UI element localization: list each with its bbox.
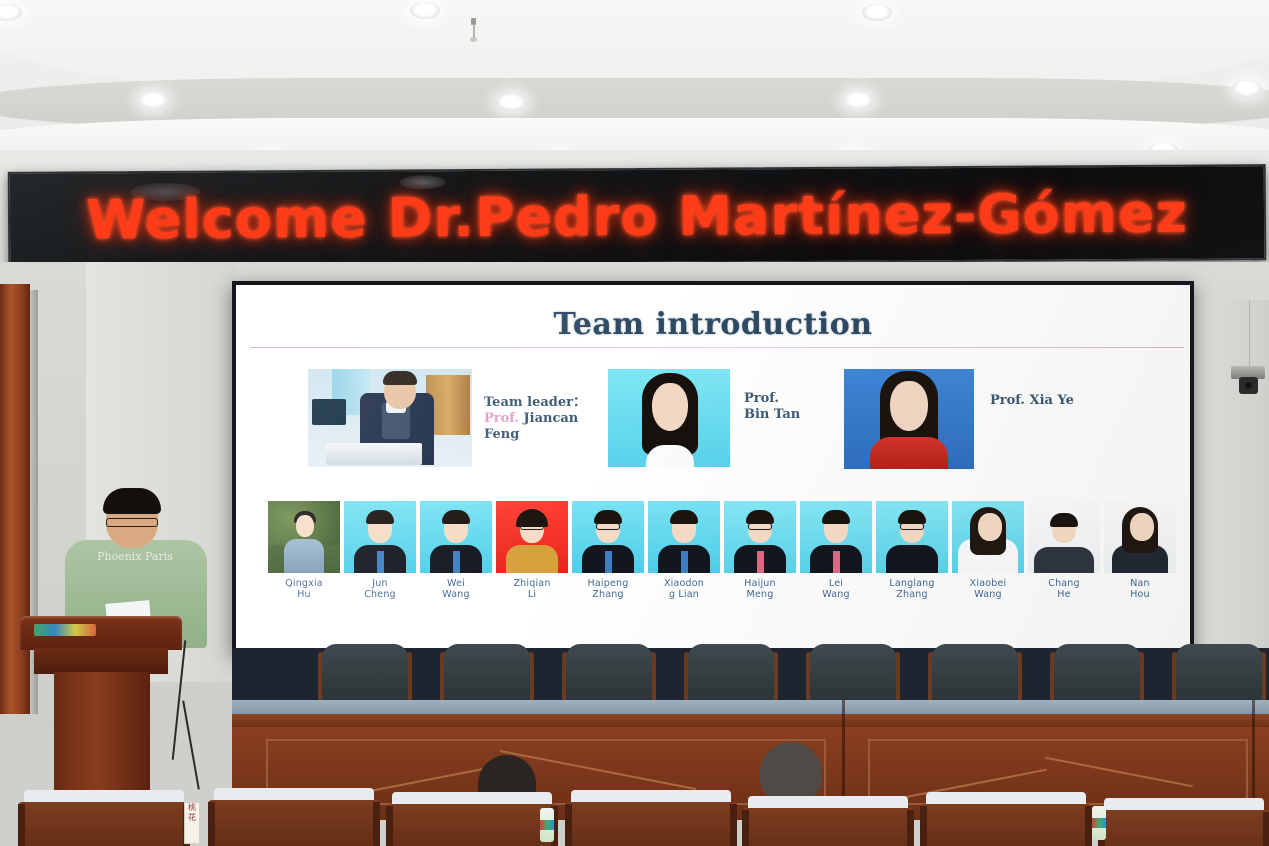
student-name: HaijunMeng bbox=[724, 578, 796, 600]
ceiling-light-icon bbox=[496, 94, 526, 111]
led-banner-text: Welcome Dr.Pedro Martínez-Gómez bbox=[10, 166, 1265, 266]
security-camera-icon bbox=[1231, 366, 1265, 400]
water-bottle bbox=[1092, 806, 1106, 840]
student-cell: LeiWang bbox=[800, 501, 872, 600]
student-photo-qingxia-hu bbox=[268, 501, 340, 573]
audience-seat[interactable] bbox=[1098, 798, 1269, 846]
head-table-chair[interactable] bbox=[806, 644, 900, 706]
student-photo-xiaodong-lian bbox=[648, 501, 720, 573]
student-cell: WeiWang bbox=[420, 501, 492, 600]
projection-screen: Team introduction Team leader： Prof. Jia… bbox=[232, 281, 1194, 653]
leader-given-name: Jiancan bbox=[519, 411, 578, 426]
student-cell: NanHou bbox=[1104, 501, 1176, 600]
water-bottle bbox=[540, 808, 554, 842]
student-name: ChangHe bbox=[1028, 578, 1100, 600]
head-table-chair[interactable] bbox=[1172, 644, 1266, 706]
student-cell: ZhiqianLi bbox=[496, 501, 568, 600]
faculty-item-bin-tan: Prof. Bin Tan bbox=[608, 369, 800, 467]
student-photo-zhiqian-li bbox=[496, 501, 568, 573]
student-name: LanglangZhang bbox=[876, 578, 948, 600]
xia-ye-name: Prof. Xia Ye bbox=[990, 393, 1074, 409]
speaker-hair bbox=[103, 488, 161, 514]
student-cell: QingxiaHu bbox=[268, 501, 340, 600]
student-photo-haijun-meng bbox=[724, 501, 796, 573]
student-photo-xiaobei-wang bbox=[952, 501, 1024, 573]
audience-seat[interactable] bbox=[208, 788, 380, 846]
student-name: JunCheng bbox=[344, 578, 416, 600]
faculty-label-jiancan-feng: Team leader： Prof. Jiancan Feng bbox=[484, 395, 586, 443]
slide-divider bbox=[250, 347, 1184, 348]
bin-tan-title: Prof. bbox=[744, 391, 800, 407]
leader-prof-word: Prof. bbox=[484, 411, 519, 426]
head-table-chair[interactable] bbox=[318, 644, 412, 706]
faculty-photo-jiancan-feng bbox=[308, 369, 472, 467]
student-photo-lei-wang bbox=[800, 501, 872, 573]
ceiling-light-icon bbox=[862, 4, 892, 21]
student-name: XiaobeiWang bbox=[952, 578, 1024, 600]
student-name: QingxiaHu bbox=[268, 578, 340, 600]
bin-tan-name: Bin Tan bbox=[744, 407, 800, 423]
student-cell: Xiaodong Lian bbox=[648, 501, 720, 600]
leader-role-line: Team leader： bbox=[484, 395, 586, 411]
student-photo-jun-cheng bbox=[344, 501, 416, 573]
student-cell: JunCheng bbox=[344, 501, 416, 600]
podium bbox=[20, 616, 182, 806]
glasses-icon bbox=[106, 518, 158, 527]
student-name: WeiWang bbox=[420, 578, 492, 600]
ceiling bbox=[0, 0, 1269, 175]
leader-surname: Feng bbox=[484, 427, 586, 443]
student-photo-wei-wang bbox=[420, 501, 492, 573]
head-table-chair[interactable] bbox=[1050, 644, 1144, 706]
slide-title: Team introduction bbox=[236, 307, 1190, 342]
faculty-item-xia-ye: Prof. Xia Ye bbox=[844, 369, 1074, 469]
audience-seat[interactable] bbox=[386, 792, 558, 846]
student-name: ZhiqianLi bbox=[496, 578, 568, 600]
student-cell: LanglangZhang bbox=[876, 501, 948, 600]
seat-name-tag: 桃花 bbox=[184, 802, 200, 844]
podium-emblem-icon bbox=[34, 624, 96, 636]
audience-seat[interactable] bbox=[565, 790, 737, 846]
student-cell: ChangHe bbox=[1028, 501, 1100, 600]
faculty-item-leader: Team leader： Prof. Jiancan Feng bbox=[308, 369, 586, 467]
faculty-photo-xia-ye bbox=[844, 369, 974, 469]
student-name: NanHou bbox=[1104, 578, 1176, 600]
student-cell: HaipengZhang bbox=[572, 501, 644, 600]
head-table-chair[interactable] bbox=[928, 644, 1022, 706]
audience-seat[interactable] bbox=[742, 796, 914, 846]
student-photo-langlang-zhang bbox=[876, 501, 948, 573]
podium-base bbox=[54, 672, 150, 806]
ceiling-light-icon bbox=[1232, 80, 1262, 97]
head-table-chair[interactable] bbox=[440, 644, 534, 706]
podium-top bbox=[20, 616, 182, 650]
conference-room-photo: Welcome Dr.Pedro Martínez-Gómez Team int… bbox=[0, 0, 1269, 846]
faculty-label-xia-ye: Prof. Xia Ye bbox=[990, 393, 1074, 409]
head-table-chair[interactable] bbox=[684, 644, 778, 706]
student-cell: XiaobeiWang bbox=[952, 501, 1024, 600]
student-cell: HaijunMeng bbox=[724, 501, 796, 600]
led-welcome-banner: Welcome Dr.Pedro Martínez-Gómez bbox=[8, 164, 1267, 268]
audience-seat[interactable] bbox=[18, 790, 190, 846]
student-row: QingxiaHu JunCheng bbox=[268, 501, 1168, 633]
sprinkler-icon bbox=[470, 18, 477, 44]
student-photo-haipeng-zhang bbox=[572, 501, 644, 573]
ceiling-light-icon bbox=[410, 2, 440, 19]
audience-seat[interactable] bbox=[920, 792, 1092, 846]
student-photo-chang-he bbox=[1028, 501, 1100, 573]
student-name: HaipengZhang bbox=[572, 578, 644, 600]
ceiling-light-icon bbox=[138, 92, 168, 109]
audience-head bbox=[760, 742, 822, 804]
faculty-row: Team leader： Prof. Jiancan Feng Prof. Bi… bbox=[236, 365, 1190, 485]
student-photo-nan-hou bbox=[1104, 501, 1176, 573]
podium-mid bbox=[34, 648, 168, 674]
head-table-chair[interactable] bbox=[562, 644, 656, 706]
ceiling-light-icon bbox=[843, 92, 873, 109]
faculty-label-bin-tan: Prof. Bin Tan bbox=[744, 391, 800, 423]
student-name: LeiWang bbox=[800, 578, 872, 600]
speaker-shirt-text: Phoenix Paris bbox=[92, 550, 178, 566]
presentation-slide: Team introduction Team leader： Prof. Jia… bbox=[236, 285, 1190, 649]
faculty-photo-bin-tan bbox=[608, 369, 730, 467]
student-name: Xiaodong Lian bbox=[648, 578, 720, 600]
